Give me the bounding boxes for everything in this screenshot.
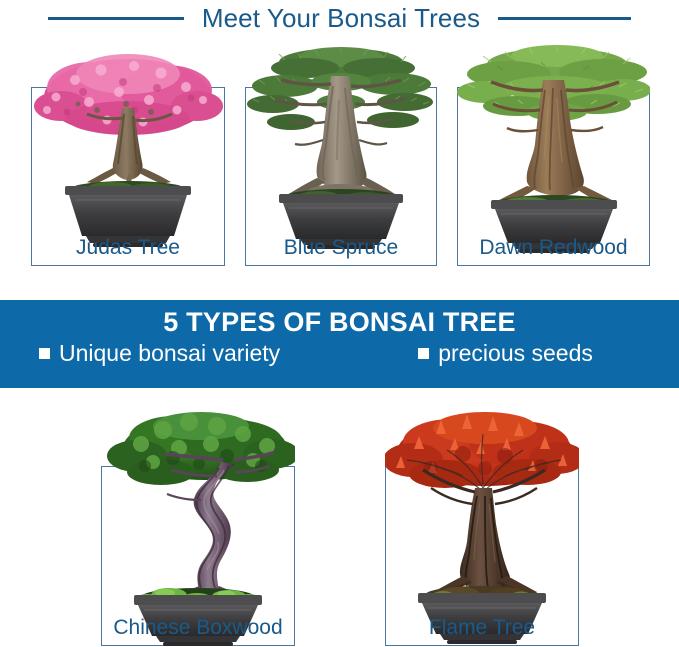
card-label: Chinese Boxwood — [101, 616, 295, 640]
banner-title: 5 TYPES OF BONSAI TREE — [163, 308, 515, 336]
tree-card-chinese-boxwood[interactable]: Chinese Boxwood — [101, 404, 295, 646]
page-title: Meet Your Bonsai Trees — [202, 3, 480, 34]
card-label: Blue Spruce — [245, 236, 437, 260]
banner-bullet-precious-seeds: precious seeds — [418, 341, 593, 366]
tree-card-dawn-redwood[interactable]: Dawn Redwood — [457, 40, 650, 266]
header-rule-left — [48, 17, 184, 20]
card-label: Judas Tree — [31, 236, 225, 260]
poster-root: Meet Your Bonsai Trees — [0, 0, 679, 647]
page-header: Meet Your Bonsai Trees — [0, 0, 679, 36]
banner-bullet-list: Unique bonsai variety precious seeds — [0, 341, 679, 366]
card-label: Flame Tree — [385, 616, 579, 640]
banner-bullet-unique-variety: Unique bonsai variety — [39, 341, 280, 366]
card-label: Dawn Redwood — [457, 236, 650, 260]
header-rule-right — [498, 17, 631, 20]
tree-card-flame-tree[interactable]: Flame Tree — [385, 404, 579, 646]
promo-banner: 5 TYPES OF BONSAI TREE Unique bonsai var… — [0, 300, 679, 388]
square-bullet-icon — [39, 348, 50, 359]
tree-card-judas-tree[interactable]: Judas Tree — [31, 40, 225, 266]
bullet-label: Unique bonsai variety — [59, 341, 280, 366]
bullet-label: precious seeds — [438, 341, 593, 366]
tree-card-blue-spruce[interactable]: Blue Spruce — [245, 40, 437, 266]
square-bullet-icon — [418, 348, 429, 359]
